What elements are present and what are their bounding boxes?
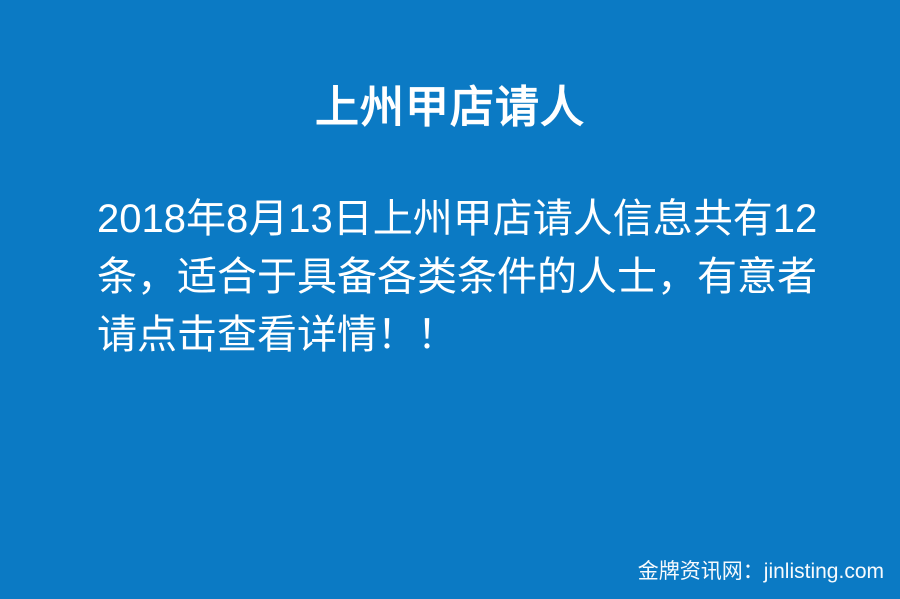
poster-slide: 上州甲店请人 2018年8月13日上州甲店请人信息共有12条，适合于具备各类条件… (0, 0, 900, 599)
page-title: 上州甲店请人 (0, 82, 900, 134)
body-paragraph: 2018年8月13日上州甲店请人信息共有12条，适合于具备各类条件的人士，有意者… (97, 190, 833, 364)
site-watermark: 金牌资讯网：jinlisting.com (638, 559, 884, 585)
